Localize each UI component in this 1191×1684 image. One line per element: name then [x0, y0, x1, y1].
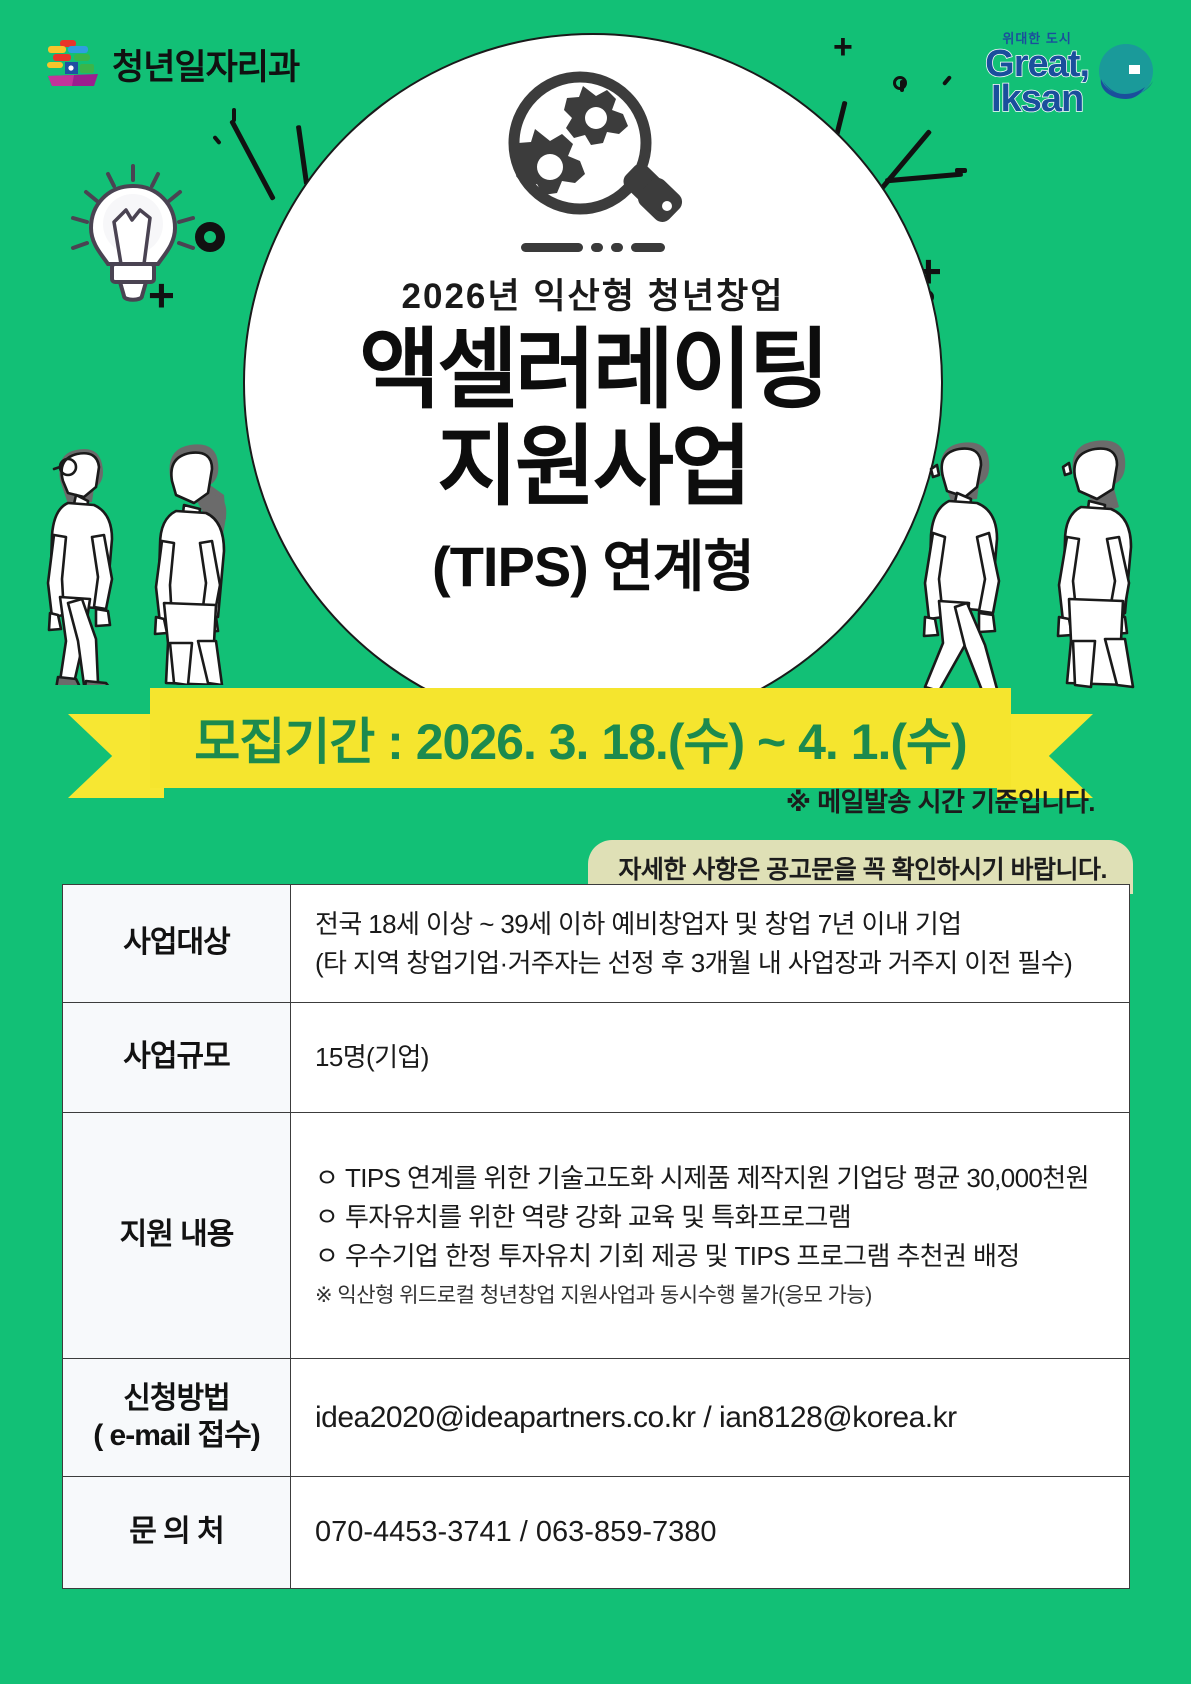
hero-dash-divider — [245, 243, 941, 252]
walking-people-left-illustration — [30, 385, 280, 685]
sparkle-tick-icon-4 — [942, 75, 952, 86]
hero-title-line1: 액셀러레이팅 — [245, 325, 941, 416]
eligibility-line-1: 전국 18세 이상 ~ 39세 이하 예비창업자 및 창업 7년 이내 기업 — [315, 905, 1129, 944]
iksan-g-mark-icon — [1093, 41, 1159, 107]
hero-circle: 2026년 익산형 청년창업 액셀러레이팅 지원사업 (TIPS) 연계형 — [243, 33, 943, 733]
support-bullet-2: ㅇ 투자유치를 위한 역량 강화 교육 및 특화프로그램 — [315, 1198, 1129, 1237]
row-value-contact: 070-4453-3741 / 063-859-7380 — [291, 1477, 1130, 1589]
row-value-support: ㅇ TIPS 연계를 위한 기술고도화 시제품 제작지원 기업당 평균 30,0… — [291, 1113, 1130, 1359]
city-name-line1: Great, — [985, 47, 1089, 82]
city-logo-wordmark: 위대한 도시 Great, Iksan — [985, 32, 1089, 117]
contact-phones: 070-4453-3741 / 063-859-7380 — [315, 1511, 1129, 1555]
youth-jobs-logo-icon — [44, 38, 102, 90]
application-emails: idea2020@ideapartners.co.kr / ian8128@ko… — [315, 1395, 1129, 1440]
program-info-table: 사업대상 전국 18세 이상 ~ 39세 이하 예비창업자 및 창업 7년 이내… — [62, 884, 1130, 1589]
row-label-contact: 문 의 처 — [63, 1477, 291, 1589]
hero-eyebrow: 2026년 익산형 청년창업 — [245, 268, 941, 319]
row-label-application: 신청방법 ( e-mail 접수) — [63, 1359, 291, 1477]
row-value-scale: 15명(기업) — [291, 1003, 1130, 1113]
sparkle-tick-icon-2 — [212, 135, 221, 145]
table-row-eligibility: 사업대상 전국 18세 이상 ~ 39세 이하 예비창업자 및 창업 7년 이내… — [63, 885, 1130, 1003]
scale-value: 15명(기업) — [315, 1038, 1129, 1077]
city-name-line2: Iksan — [985, 82, 1089, 117]
row-label-support: 지원 내용 — [63, 1113, 291, 1359]
support-bullet-3: ㅇ 우수기업 한정 투자유치 기회 제공 및 TIPS 프로그램 추천권 배정 — [315, 1237, 1129, 1276]
lightbulb-idea-icon — [58, 160, 208, 320]
recruitment-period-text: 모집기간 : 2026. 3. 18.(수) ~ 4. 1.(수) — [194, 702, 966, 774]
table-row-support: 지원 내용 ㅇ TIPS 연계를 위한 기술고도화 시제품 제작지원 기업당 평… — [63, 1113, 1130, 1359]
eligibility-line-2: (타 지역 창업기업·거주자는 선정 후 3개월 내 사업장과 거주지 이전 필… — [315, 944, 1129, 983]
row-label-scale: 사업규모 — [63, 1003, 291, 1113]
row-label-eligibility: 사업대상 — [63, 885, 291, 1003]
table-row-scale: 사업규모 15명(기업) — [63, 1003, 1130, 1113]
row-value-eligibility: 전국 18세 이상 ~ 39세 이하 예비창업자 및 창업 7년 이내 기업 (… — [291, 885, 1130, 1003]
row-value-application: idea2020@ideapartners.co.kr / ian8128@ko… — [291, 1359, 1130, 1477]
city-brand-logo: 위대한 도시 Great, Iksan — [985, 32, 1159, 117]
application-label-line2: ( e-mail 접수) — [93, 1419, 260, 1452]
ribbon-body: 모집기간 : 2026. 3. 18.(수) ~ 4. 1.(수) — [150, 688, 1011, 788]
sparkle-tick-icon-5 — [955, 168, 967, 173]
application-label-line1: 신청방법 — [123, 1382, 229, 1415]
hero-content: 2026년 익산형 청년창업 액셀러레이팅 지원사업 (TIPS) 연계형 — [245, 35, 941, 603]
walking-people-right-illustration — [921, 405, 1171, 695]
table-row-application: 신청방법 ( e-mail 접수) idea2020@ideapartners.… — [63, 1359, 1130, 1477]
support-footnote: ※ 익산형 위드로컬 청년창업 지원사업과 동시수행 불가(응모 가능) — [315, 1280, 1129, 1312]
hero-subtitle: (TIPS) 연계형 — [245, 522, 941, 603]
hero-title-line2: 지원사업 — [245, 422, 941, 513]
ribbon-footnote: ※ 메일발송 시간 기준입니다. — [786, 782, 1095, 819]
table-row-contact: 문 의 처 070-4453-3741 / 063-859-7380 — [63, 1477, 1130, 1589]
magnifier-gears-icon — [488, 63, 698, 241]
support-bullet-1: ㅇ TIPS 연계를 위한 기술고도화 시제품 제작지원 기업당 평균 30,0… — [315, 1159, 1129, 1198]
